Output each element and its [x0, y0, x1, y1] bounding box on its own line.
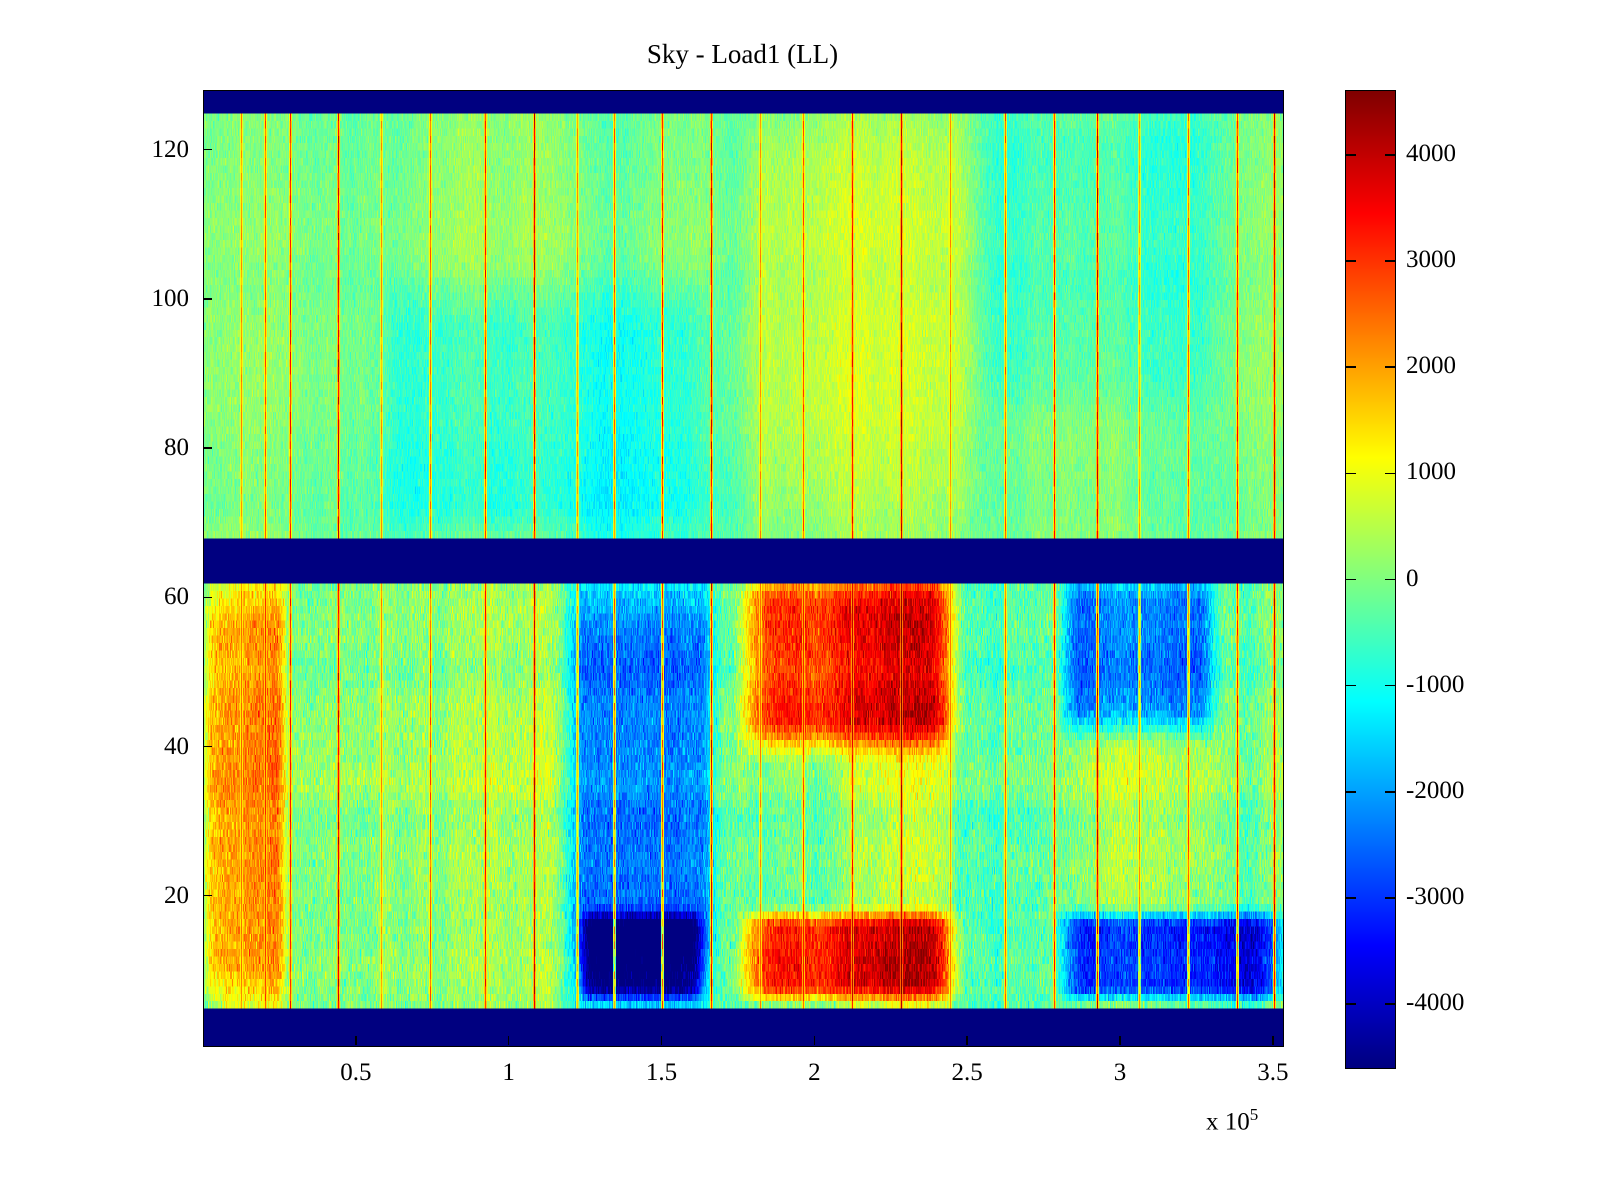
page-title: Sky - Load1 (LL) [203, 40, 1282, 70]
x-tick-label: 2 [808, 1059, 821, 1087]
colorbar-tick [1346, 260, 1356, 262]
colorbar-tick-label: -1000 [1406, 671, 1464, 699]
y-tick-label: 20 [103, 882, 189, 910]
y-tick [203, 895, 212, 896]
colorbar-tick [1346, 154, 1356, 156]
x-tick [1119, 1036, 1120, 1045]
colorbar-tick-label: 0 [1406, 565, 1419, 593]
y-tick-label: 40 [103, 733, 189, 761]
colorbar-tick [1385, 473, 1395, 475]
colorbar-tick [1385, 260, 1395, 262]
colorbar-tick [1385, 579, 1395, 581]
colorbar-tick [1385, 791, 1395, 793]
colorbar-tick [1346, 579, 1356, 581]
colorbar-tick [1346, 366, 1356, 368]
colorbar-tick-label: 2000 [1406, 352, 1456, 380]
figure-canvas: Sky - Load1 (LL) 0.511.522.533.5 2040608… [0, 0, 1600, 1200]
x-tick [966, 1036, 967, 1045]
colorbar-tick [1346, 897, 1356, 899]
x-tick-label: 3 [1114, 1059, 1127, 1087]
colorbar-tick-label: -3000 [1406, 883, 1464, 911]
x-exponent-power: 5 [1250, 1105, 1259, 1124]
y-tick [203, 298, 212, 299]
colorbar-tick [1346, 1003, 1356, 1005]
x-tick-label: 2.5 [952, 1059, 983, 1087]
colorbar-tick [1385, 366, 1395, 368]
heatmap-axes[interactable] [203, 90, 1284, 1047]
y-tick-label: 100 [103, 285, 189, 313]
x-tick [814, 1036, 815, 1045]
x-tick-label: 1.5 [646, 1059, 677, 1087]
colorbar-tick-label: 1000 [1406, 458, 1456, 486]
x-tick-label: 1 [502, 1059, 515, 1087]
x-tick-label: 0.5 [340, 1059, 371, 1087]
x-tick [661, 1036, 662, 1045]
y-tick-label: 80 [103, 434, 189, 462]
x-tick [355, 1036, 356, 1045]
x-axis-exponent-label: x 105 [1206, 1105, 1258, 1136]
colorbar-tick [1346, 473, 1356, 475]
colorbar-tick-label: -4000 [1406, 989, 1464, 1017]
y-tick [203, 149, 212, 150]
x-tick [508, 1036, 509, 1045]
y-tick-label: 120 [103, 136, 189, 164]
x-exponent-mantissa: x 10 [1206, 1108, 1250, 1135]
colorbar[interactable] [1345, 90, 1396, 1069]
colorbar-tick-label: 3000 [1406, 246, 1456, 274]
colorbar-tick [1385, 154, 1395, 156]
colorbar-tick [1346, 791, 1356, 793]
y-tick [203, 746, 212, 747]
colorbar-tick [1346, 685, 1356, 687]
y-tick [203, 447, 212, 448]
x-tick [1272, 1036, 1273, 1045]
colorbar-tick [1385, 1003, 1395, 1005]
colorbar-tick [1385, 897, 1395, 899]
y-tick [203, 597, 212, 598]
colorbar-tick [1385, 685, 1395, 687]
colorbar-tick-label: 4000 [1406, 140, 1456, 168]
x-tick-label: 3.5 [1257, 1059, 1288, 1087]
heatmap-image [204, 91, 1283, 1046]
y-tick-label: 60 [103, 583, 189, 611]
colorbar-tick-label: -2000 [1406, 777, 1464, 805]
